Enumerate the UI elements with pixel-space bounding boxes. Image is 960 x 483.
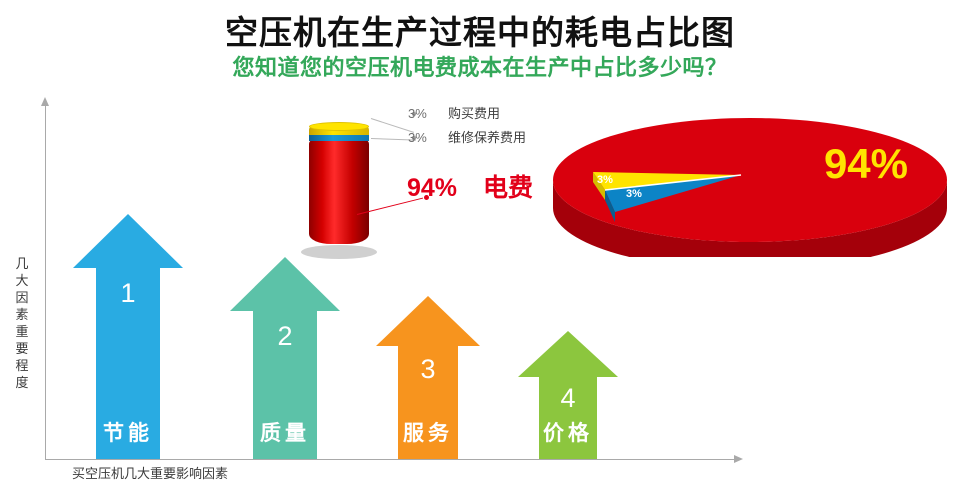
x-axis — [45, 459, 735, 460]
callout-maintenance-pct: 3% — [408, 130, 427, 145]
bar-arrow-3: 3 服务 — [376, 296, 480, 459]
battery-cap — [309, 122, 369, 131]
pie-label-maintenance: 3% — [626, 188, 642, 200]
y-axis-label: 几大因素重要程度 — [12, 255, 32, 391]
callout-purchase-name: 购买费用 — [448, 106, 500, 121]
callout-purchase-pct: 3% — [408, 106, 427, 121]
x-axis-label: 买空压机几大重要影响因素 — [72, 463, 228, 482]
callout-power-name: 电费 — [483, 174, 533, 202]
bar-arrow-1: 1 节能 — [73, 214, 183, 459]
callout-purchase: 3% 购买费用 — [408, 103, 500, 122]
page-subtitle: 您知道您的空压机电费成本在生产中占比多少吗？ — [0, 50, 960, 82]
bar-rank-3: 3 — [376, 354, 480, 385]
callout-power: 94% 电费 — [407, 168, 533, 204]
infographic-canvas: 空压机在生产过程中的耗电占比图 您知道您的空压机电费成本在生产中占比多少吗？ 几… — [0, 0, 960, 483]
bar-label-4: 价格 — [518, 417, 618, 447]
callout-maintenance-name: 维修保养费用 — [448, 130, 526, 145]
y-axis — [45, 105, 46, 460]
pie-chart: 94% 3% 3% — [545, 112, 950, 257]
bar-label-3: 服务 — [376, 417, 480, 447]
bar-rank-2: 2 — [230, 321, 340, 352]
battery-segment-power — [309, 140, 369, 244]
bar-arrow-2: 2 质量 — [230, 257, 340, 459]
pie-label-purchase: 3% — [597, 174, 613, 186]
bar-rank-1: 1 — [73, 278, 183, 309]
callout-power-pct: 94% — [407, 174, 457, 202]
bar-rank-4: 4 — [518, 383, 618, 414]
battery-base — [301, 245, 377, 259]
page-title: 空压机在生产过程中的耗电占比图 — [0, 6, 960, 54]
pie-main-percent: 94% — [824, 140, 908, 188]
bar-label-2: 质量 — [230, 417, 340, 447]
bar-arrow-4: 4 价格 — [518, 331, 618, 459]
bar-label-1: 节能 — [73, 417, 183, 447]
callout-maintenance: 3% 维修保养费用 — [408, 127, 526, 146]
battery-column-chart — [309, 126, 369, 251]
